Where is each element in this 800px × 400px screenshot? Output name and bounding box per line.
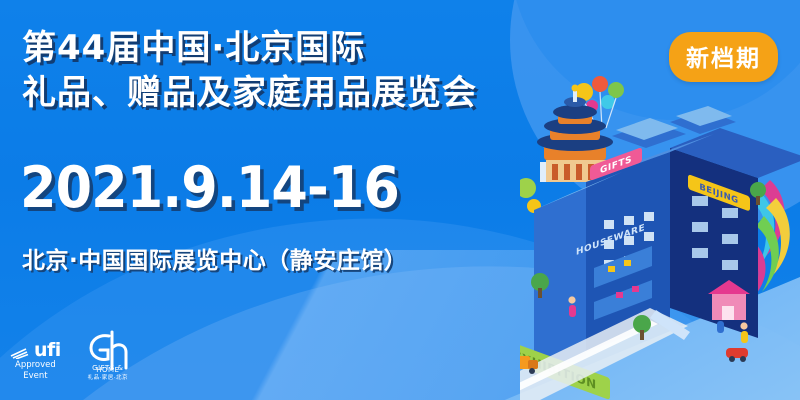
ufi-subtitle-line-2: Event [23, 371, 47, 382]
event-venue: 北京·中国国际展览中心（静安庄馆） [22, 250, 407, 273]
ufi-swoosh-icon [10, 343, 32, 359]
logo-group: ufi Approved Event GIFTS & HOME 礼品·家居·北京 [10, 330, 131, 382]
ufi-wordmark: ufi [34, 342, 61, 359]
isometric-city-illustration: GIFTS BEIJING HOUSEWARE EXHIBITION [520, 70, 800, 400]
exhibition-banner: GIFTS BEIJING HOUSEWARE EXHIBITION [0, 0, 800, 400]
new-schedule-badge[interactable]: 新档期 [669, 32, 778, 82]
headline-line-1: 第44届中国·北京国际 [22, 26, 542, 71]
headline-line-2: 礼品、赠品及家庭用品展览会 [22, 71, 542, 116]
headline-block: 第44届中国·北京国际 礼品、赠品及家庭用品展览会 [22, 26, 542, 116]
event-date: 2021.9.14-16 [20, 160, 399, 217]
gifts-home-line-2: HOME [96, 366, 119, 374]
ufi-subtitle-line-1: Approved [15, 360, 56, 371]
ufi-approved-event-logo: ufi Approved Event [10, 342, 61, 382]
car-icon [726, 348, 748, 362]
gifts-home-logo: GIFTS & HOME 礼品·家居·北京 [85, 330, 131, 382]
gifts-home-line-3: 礼品·家居·北京 [88, 375, 129, 382]
